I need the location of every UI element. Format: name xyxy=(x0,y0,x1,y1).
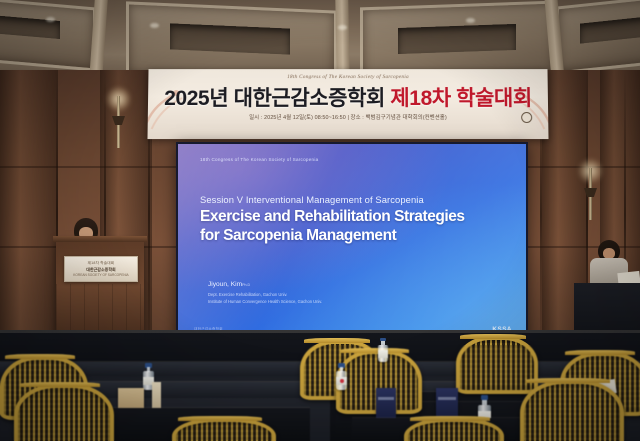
stage-edge xyxy=(0,330,640,333)
slide-affiliation-2: Institute of Human Convergence Health Sc… xyxy=(208,299,322,304)
chair xyxy=(404,418,496,441)
chair xyxy=(520,380,616,441)
slide-session-label: Session V Interventional Management of S… xyxy=(200,194,424,205)
banner-year: 2025년 xyxy=(164,87,228,110)
banner-event: 학술대회 xyxy=(456,87,532,110)
banner-society: 대한근감소증학회 xyxy=(234,87,385,110)
slide-congress-line: 18th Congress of The Korean Society of S… xyxy=(200,157,318,162)
slide-title: Exercise and Rehabilitation Strategies f… xyxy=(200,208,516,246)
wall-sconce-left xyxy=(112,96,125,148)
water-bottle xyxy=(378,338,388,362)
name-card xyxy=(152,382,161,410)
chair xyxy=(172,418,268,441)
podium-top-surface xyxy=(53,236,147,242)
slide-presenter: Jiyoun, KimPh.D xyxy=(208,281,250,288)
slide-title-line1: Exercise and Rehabilitation Strategies xyxy=(200,208,516,227)
chair xyxy=(336,350,414,406)
banner-english-header: 18th Congress of The Korean Society of S… xyxy=(148,74,547,80)
ceiling xyxy=(0,0,640,78)
chair xyxy=(14,384,106,441)
presentation-slide: 18th Congress of The Korean Society of S… xyxy=(178,144,526,340)
slide-title-line2: for Sarcopenia Management xyxy=(200,227,516,246)
society-logo-icon xyxy=(521,112,532,123)
banner-main-title: 2025년 대한근감소증학회 제18차 학술대회 xyxy=(148,82,548,112)
podium-sign: 제18차 학술대회 대한근감소증학회 KOREAN SOCIETY OF SAR… xyxy=(64,256,138,282)
wall-sconce-right xyxy=(584,168,597,220)
banner-details: 일시 : 2025년 4월 12일(토) 08:50~16:50 | 장소 : … xyxy=(148,113,549,121)
presenter-name: Jiyoun, Kim xyxy=(208,281,242,288)
podium-sign-line3: KOREAN SOCIETY OF SARCOPENIA xyxy=(65,273,137,277)
slide-affiliation-1: Dept. Exercise Rehabilitation, Gachon Un… xyxy=(208,292,287,297)
chair xyxy=(456,336,530,386)
water-bottle xyxy=(336,364,347,390)
event-banner: 18th Congress of The Korean Society of S… xyxy=(147,69,548,139)
podium-sign-line1: 제18차 학술대회 xyxy=(65,261,137,266)
banner-edition: 제18차 xyxy=(390,87,451,110)
conference-hall-photo: 18th Congress of The Korean Society of S… xyxy=(0,0,640,441)
presenter-degree: Ph.D xyxy=(242,283,250,287)
projection-screen: 18th Congress of The Korean Society of S… xyxy=(176,142,528,342)
